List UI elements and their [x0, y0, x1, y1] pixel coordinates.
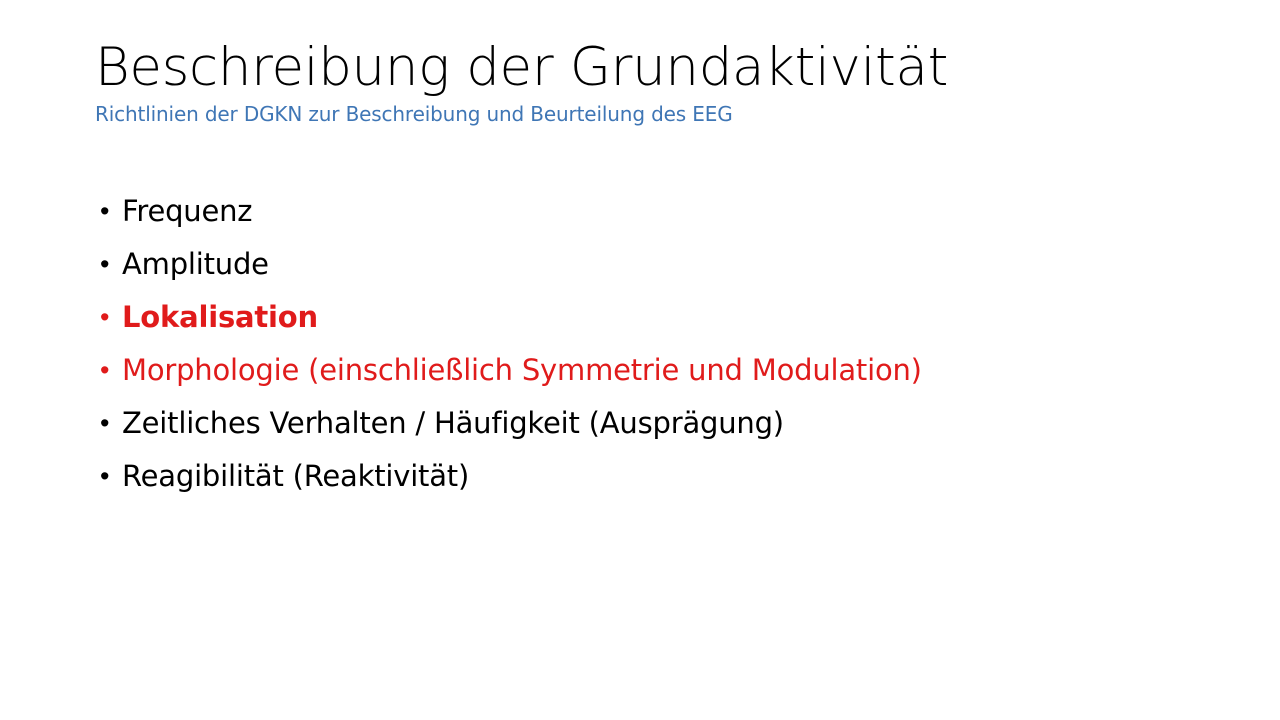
title-block: Beschreibung der Grundaktivität Richtlin… [95, 40, 1195, 127]
list-item: • Morphologie (einschließlich Symmetrie … [100, 351, 1220, 404]
bullet-point-icon: • [100, 457, 122, 495]
list-item: • Reagibilität (Reaktivität) [100, 457, 1220, 510]
list-item: • Frequenz [100, 192, 1220, 245]
list-item: • Lokalisation [100, 298, 1220, 351]
list-item-label: Zeitliches Verhalten / Häufigkeit (Auspr… [122, 404, 1220, 442]
list-item-label: Morphologie (einschließlich Symmetrie un… [122, 351, 1220, 389]
bullet-point-icon: • [100, 351, 122, 389]
bullet-point-icon: • [100, 404, 122, 442]
bullet-list: • Frequenz • Amplitude • Lokalisation • … [100, 192, 1220, 510]
list-item: • Zeitliches Verhalten / Häufigkeit (Aus… [100, 404, 1220, 457]
bullet-point-icon: • [100, 298, 122, 336]
bullet-point-icon: • [100, 192, 122, 230]
list-item: • Amplitude [100, 245, 1220, 298]
page-title: Beschreibung der Grundaktivität [95, 40, 1195, 96]
list-item-label: Amplitude [122, 245, 1220, 283]
page-subtitle: Richtlinien der DGKN zur Beschreibung un… [95, 102, 1195, 127]
list-item-label: Reagibilität (Reaktivität) [122, 457, 1220, 495]
list-item-label: Lokalisation [122, 298, 1220, 336]
slide-canvas: Beschreibung der Grundaktivität Richtlin… [0, 0, 1280, 720]
list-item-label: Frequenz [122, 192, 1220, 230]
bullet-point-icon: • [100, 245, 122, 283]
